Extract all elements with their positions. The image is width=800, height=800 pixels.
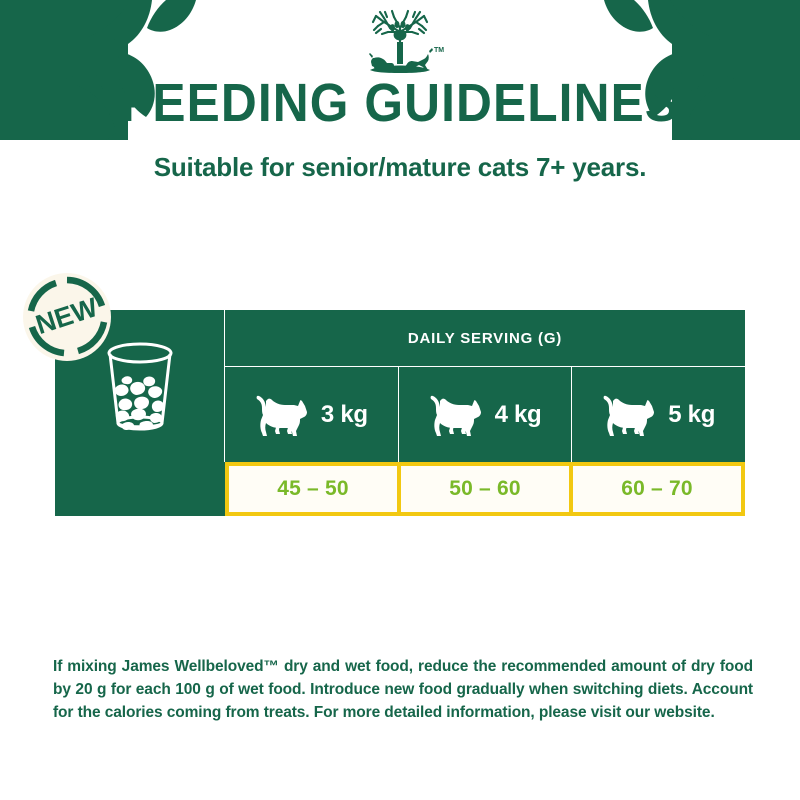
serving-cell-1: 45 – 50 <box>225 462 401 516</box>
daily-serving-header-label: DAILY SERVING (G) <box>408 330 562 347</box>
cat-icon <box>429 393 487 437</box>
cat-weight-row: 3 kg 4 kg 5 kg <box>225 367 745 462</box>
measuring-cup-with-kibble-icon <box>101 340 179 432</box>
label-cell-footer <box>55 462 225 516</box>
cat-weight-label-1: 3 kg <box>321 401 368 429</box>
cat-weight-label-2: 4 kg <box>495 401 542 429</box>
page-subtitle: Suitable for senior/mature cats 7+ years… <box>0 152 800 183</box>
cat-weight-cell-2: 4 kg <box>399 367 572 462</box>
footnote-text: If mixing James Wellbeloved™ dry and wet… <box>53 655 753 724</box>
page-title: FEEDING GUIDELINES <box>32 74 768 132</box>
svg-text:TM: TM <box>434 47 444 54</box>
james-wellbeloved-tree-logo-icon: TM <box>354 8 446 80</box>
new-badge: NEW <box>22 272 112 362</box>
cat-icon <box>255 393 313 437</box>
serving-value-3: 60 – 70 <box>621 477 692 501</box>
serving-value-2: 50 – 60 <box>449 477 520 501</box>
feeding-table: DAILY SERVING (G) 3 kg 4 kg 5 kg <box>55 310 745 516</box>
feeding-guidelines-page: TM FEEDING GUIDELINES Suitable for senio… <box>0 0 800 800</box>
cat-weight-cell-1: 3 kg <box>225 367 398 462</box>
cat-weight-cell-3: 5 kg <box>572 367 745 462</box>
serving-cell-3: 60 – 70 <box>569 462 745 516</box>
cat-weight-label-3: 5 kg <box>668 401 715 429</box>
cat-icon <box>602 393 660 437</box>
daily-serving-header-cell: DAILY SERVING (G) <box>225 310 745 366</box>
serving-value-1: 45 – 50 <box>277 477 348 501</box>
serving-values-row: 45 – 50 50 – 60 60 – 70 <box>225 462 745 516</box>
serving-cell-2: 50 – 60 <box>397 462 573 516</box>
